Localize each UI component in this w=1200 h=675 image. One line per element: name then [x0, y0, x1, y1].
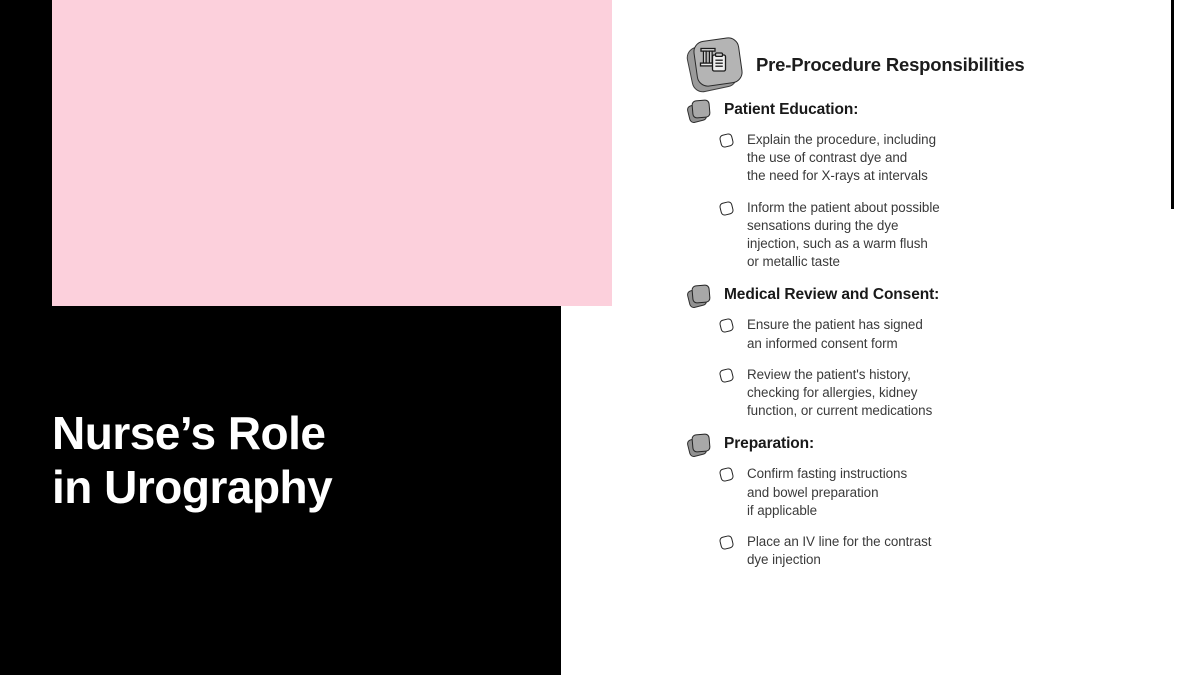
list-item: Place an IV line for the contrast dye in… — [688, 533, 1188, 569]
rounded-square-bullet-icon — [720, 202, 736, 218]
section-header: Patient Education: — [688, 100, 1188, 122]
right-vertical-rule — [1171, 0, 1174, 209]
rounded-square-bullet-icon — [720, 134, 736, 150]
section-label: Preparation: — [724, 434, 814, 454]
rounded-square-bullet-icon — [720, 369, 736, 385]
content-header-title: Pre-Procedure Responsibilities — [756, 54, 1025, 76]
list-item: Explain the procedure, including the use… — [688, 131, 1188, 186]
slide-canvas: Nurse’s Role in Urography — [0, 0, 1200, 675]
section-medical-review-and-consent: Medical Review and Consent: Ensure the p… — [688, 285, 1188, 420]
bullet-list: Explain the procedure, including the use… — [688, 131, 1188, 271]
content-header: Pre-Procedure Responsibilities — [688, 38, 1025, 92]
rounded-square-bullet-icon — [720, 468, 736, 484]
section-label: Patient Education: — [724, 100, 858, 120]
section-preparation: Preparation: Confirm fasting instruction… — [688, 434, 1188, 569]
bullet-ring — [719, 467, 735, 483]
content-panel: Pre-Procedure Responsibilities Patient E… — [612, 0, 1200, 675]
rounded-square-bullet-icon — [720, 319, 736, 335]
list-item: Review the patient's history, checking f… — [688, 366, 1188, 421]
bullet-text: Place an IV line for the contrast dye in… — [747, 533, 931, 569]
section-header: Preparation: — [688, 434, 1188, 456]
gray-square-marker-icon — [688, 100, 712, 122]
list-item: Confirm fasting instructions and bowel p… — [688, 465, 1188, 520]
page-title: Nurse’s Role in Urography — [52, 406, 522, 514]
gray-square-marker-icon — [688, 434, 712, 456]
section-header: Medical Review and Consent: — [688, 285, 1188, 307]
bullet-list: Ensure the patient has signed an informe… — [688, 316, 1188, 420]
bullet-ring — [719, 200, 735, 216]
section-label: Medical Review and Consent: — [724, 285, 939, 305]
bullet-text: Ensure the patient has signed an informe… — [747, 316, 923, 352]
marker-front-square — [691, 434, 711, 454]
rounded-square-bullet-icon — [720, 536, 736, 552]
list-item: Inform the patient about possible sensat… — [688, 199, 1188, 272]
bullet-ring — [719, 535, 735, 551]
bullet-ring — [719, 367, 735, 383]
bullet-text: Inform the patient about possible sensat… — [747, 199, 940, 272]
section-patient-education: Patient Education: Explain the procedure… — [688, 100, 1188, 271]
gray-square-marker-icon — [688, 285, 712, 307]
pillar-clipboard-icon — [688, 38, 742, 92]
bullet-text: Review the patient's history, checking f… — [747, 366, 932, 421]
list-item: Ensure the patient has signed an informe… — [688, 316, 1188, 352]
sections-list: Patient Education: Explain the procedure… — [688, 100, 1188, 583]
pillar-clipboard-glyph — [698, 44, 732, 78]
bullet-text: Explain the procedure, including the use… — [747, 131, 936, 186]
marker-front-square — [691, 99, 711, 119]
bullet-list: Confirm fasting instructions and bowel p… — [688, 465, 1188, 569]
bullet-ring — [719, 133, 735, 149]
marker-front-square — [691, 285, 711, 305]
bullet-text: Confirm fasting instructions and bowel p… — [747, 465, 907, 520]
bullet-ring — [719, 318, 735, 334]
hero-image-placeholder — [52, 0, 612, 306]
